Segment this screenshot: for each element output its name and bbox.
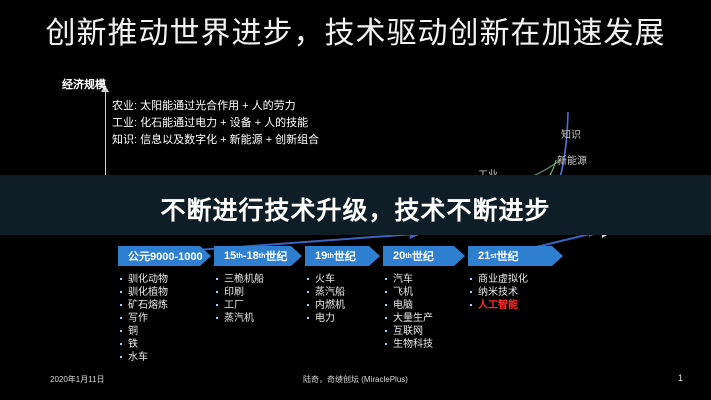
timeline-item: 电力	[305, 312, 380, 325]
timeline-item-list: 三桅机船印刷工厂蒸汽机	[214, 273, 302, 325]
presentation-slide: 创新推动世界进步，技术驱动创新在加速发展 经济规模 农业: 太阳能通过光合作用 …	[0, 0, 711, 400]
timeline-item: 生物科技	[383, 338, 465, 351]
timeline-item: 人工智能	[468, 299, 563, 312]
timeline-item: 铁	[118, 338, 211, 351]
timeline-item: 铜	[118, 325, 211, 338]
timeline-column: 20th 世纪汽车飞机电脑大量生产互联网生物科技	[383, 246, 465, 351]
timeline-period-header[interactable]: 19th 世纪	[305, 246, 380, 266]
timeline-item: 驯化植物	[118, 286, 211, 299]
curve-label-new-energy: 新能源	[557, 152, 587, 167]
timeline-period-header[interactable]: 21st 世纪	[468, 246, 563, 266]
timeline-item-list: 汽车飞机电脑大量生产互联网生物科技	[383, 273, 465, 351]
timeline-item: 商业虚拟化	[468, 273, 563, 286]
timeline-item: 工厂	[214, 299, 302, 312]
timeline-item: 水车	[118, 351, 211, 364]
timeline-item-list: 火车蒸汽船内燃机电力	[305, 273, 380, 325]
curve-label-knowledge: 知识	[561, 126, 581, 141]
timeline-item: 矿石熔炼	[118, 299, 211, 312]
timeline-item: 纳米技术	[468, 286, 563, 299]
timeline-item: 飞机	[383, 286, 465, 299]
timeline: 公元9000-1000驯化动物驯化植物矿石熔炼写作铜铁水车15th-18th 世…	[118, 246, 608, 358]
overlay-banner-text: 不断进行技术升级，技术不断进步	[0, 191, 711, 227]
timeline-item: 三桅机船	[214, 273, 302, 286]
timeline-item: 火车	[305, 273, 380, 286]
timeline-column: 21st 世纪商业虚拟化纳米技术人工智能	[468, 246, 563, 312]
timeline-item: 汽车	[383, 273, 465, 286]
timeline-item: 蒸汽机	[214, 312, 302, 325]
timeline-period-header[interactable]: 15th-18th 世纪	[214, 246, 302, 266]
timeline-item-list: 商业虚拟化纳米技术人工智能	[468, 273, 563, 312]
timeline-period-header[interactable]: 公元9000-1000	[118, 246, 211, 266]
timeline-item: 互联网	[383, 325, 465, 338]
timeline-item-list: 驯化动物驯化植物矿石熔炼写作铜铁水车	[118, 273, 211, 364]
timeline-item: 电脑	[383, 299, 465, 312]
footer-author: 陆奇，奇绩创坛 (MiraclePlus)	[0, 374, 711, 385]
timeline-column: 公元9000-1000驯化动物驯化植物矿石熔炼写作铜铁水车	[118, 246, 211, 364]
timeline-item: 内燃机	[305, 299, 380, 312]
footer-page-number: 1	[678, 373, 683, 383]
timeline-item: 写作	[118, 312, 211, 325]
timeline-item: 大量生产	[383, 312, 465, 325]
timeline-item: 印刷	[214, 286, 302, 299]
timeline-period-header[interactable]: 20th 世纪	[383, 246, 465, 266]
timeline-item: 驯化动物	[118, 273, 211, 286]
timeline-column: 15th-18th 世纪三桅机船印刷工厂蒸汽机	[214, 246, 302, 325]
timeline-item: 蒸汽船	[305, 286, 380, 299]
timeline-column: 19th 世纪火车蒸汽船内燃机电力	[305, 246, 380, 325]
